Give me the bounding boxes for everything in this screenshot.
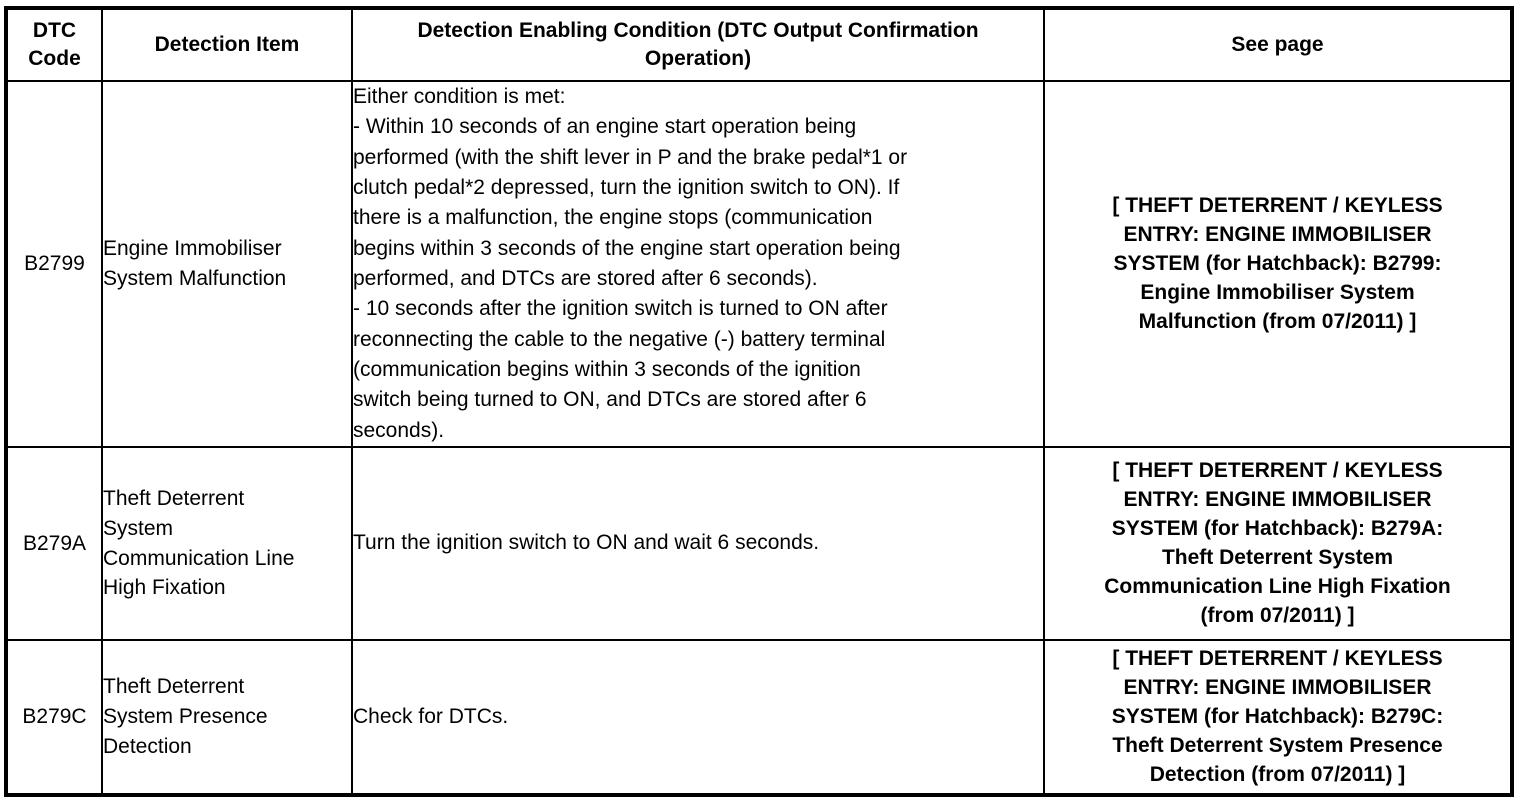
condition-line: seconds). [353,416,1043,446]
cell-dtc-code: B279A [6,447,102,640]
see-page-line: [ THEFT DETERRENT / KEYLESS [1045,192,1510,221]
detection-item-line: Engine Immobiliser [103,234,351,264]
condition-line: switch being turned to ON, and DTCs are … [353,385,1043,415]
column-header-see-page-line-1: See page [1045,31,1510,59]
cell-condition: Check for DTCs. [352,640,1044,795]
condition-line: Turn the ignition switch to ON and wait … [353,528,1043,558]
detection-item-line: System Presence [103,702,351,732]
column-header-detection-item: Detection Item [102,8,352,81]
cell-dtc-code: B279C [6,640,102,795]
condition-line: - 10 seconds after the ignition switch i… [353,294,1043,324]
column-header-dtc-code-line-1: DTC [8,17,101,45]
cell-condition: Either condition is met: - Within 10 sec… [352,81,1044,447]
table-row: B279A Theft Deterrent System Communicati… [6,447,1512,640]
detection-item-line: Communication Line [103,544,351,574]
table-row: B279C Theft Deterrent System Presence De… [6,640,1512,795]
table-header-row: DTC Code Detection Item Detection Enabli… [6,8,1512,81]
cell-condition: Turn the ignition switch to ON and wait … [352,447,1044,640]
see-page-line: Theft Deterrent System Presence [1045,732,1510,761]
condition-line: performed (with the shift lever in P and… [353,143,1043,173]
see-page-line: ENTRY: ENGINE IMMOBILISER [1045,221,1510,250]
see-page-line: Detection (from 07/2011) ] [1045,761,1510,790]
cell-dtc-code: B2799 [6,81,102,447]
column-header-condition: Detection Enabling Condition (DTC Output… [352,8,1044,81]
detection-item-line: System Malfunction [103,264,351,294]
column-header-dtc-code-line-2: Code [8,45,101,73]
cell-detection-item: Theft Deterrent System Presence Detectio… [102,640,352,795]
column-header-see-page: See page [1044,8,1512,81]
cell-detection-item: Engine Immobiliser System Malfunction [102,81,352,447]
see-page-line: (from 07/2011) ] [1045,602,1510,631]
see-page-line: Malfunction (from 07/2011) ] [1045,308,1510,337]
column-header-detection-item-line-1: Detection Item [103,31,351,59]
condition-line: (communication begins within 3 seconds o… [353,355,1043,385]
see-page-line: ENTRY: ENGINE IMMOBILISER [1045,674,1510,703]
see-page-line: SYSTEM (for Hatchback): B279C: [1045,703,1510,732]
column-header-dtc-code: DTC Code [6,8,102,81]
detection-item-line: Theft Deterrent [103,672,351,702]
condition-line: begins within 3 seconds of the engine st… [353,234,1043,264]
cell-see-page: [ THEFT DETERRENT / KEYLESS ENTRY: ENGIN… [1044,81,1512,447]
cell-see-page: [ THEFT DETERRENT / KEYLESS ENTRY: ENGIN… [1044,447,1512,640]
detection-item-line: Theft Deterrent [103,484,351,514]
see-page-line: Engine Immobiliser System [1045,279,1510,308]
condition-line: clutch pedal*2 depressed, turn the ignit… [353,173,1043,203]
detection-item-line: System [103,514,351,544]
condition-line: - Within 10 seconds of an engine start o… [353,112,1043,142]
detection-item-line: Detection [103,732,351,762]
see-page-line: ENTRY: ENGINE IMMOBILISER [1045,486,1510,515]
dtc-diagnostic-table: DTC Code Detection Item Detection Enabli… [4,6,1514,797]
see-page-line: [ THEFT DETERRENT / KEYLESS [1045,457,1510,486]
table-body: B2799 Engine Immobiliser System Malfunct… [6,81,1512,795]
condition-line: Check for DTCs. [353,702,1043,732]
column-header-condition-line-2: Operation) [353,45,1043,73]
table-header: DTC Code Detection Item Detection Enabli… [6,8,1512,81]
cell-see-page: [ THEFT DETERRENT / KEYLESS ENTRY: ENGIN… [1044,640,1512,795]
see-page-line: SYSTEM (for Hatchback): B2799: [1045,250,1510,279]
detection-item-line: High Fixation [103,573,351,603]
table-row: B2799 Engine Immobiliser System Malfunct… [6,81,1512,447]
condition-line: there is a malfunction, the engine stops… [353,203,1043,233]
column-header-condition-line-1: Detection Enabling Condition (DTC Output… [353,17,1043,45]
document-page: DTC Code Detection Item Detection Enabli… [0,0,1520,812]
see-page-line: SYSTEM (for Hatchback): B279A: [1045,515,1510,544]
see-page-line: Communication Line High Fixation [1045,573,1510,602]
see-page-line: [ THEFT DETERRENT / KEYLESS [1045,645,1510,674]
condition-line: reconnecting the cable to the negative (… [353,325,1043,355]
cell-detection-item: Theft Deterrent System Communication Lin… [102,447,352,640]
see-page-line: Theft Deterrent System [1045,544,1510,573]
condition-line: Either condition is met: [353,82,1043,112]
condition-line: performed, and DTCs are stored after 6 s… [353,264,1043,294]
